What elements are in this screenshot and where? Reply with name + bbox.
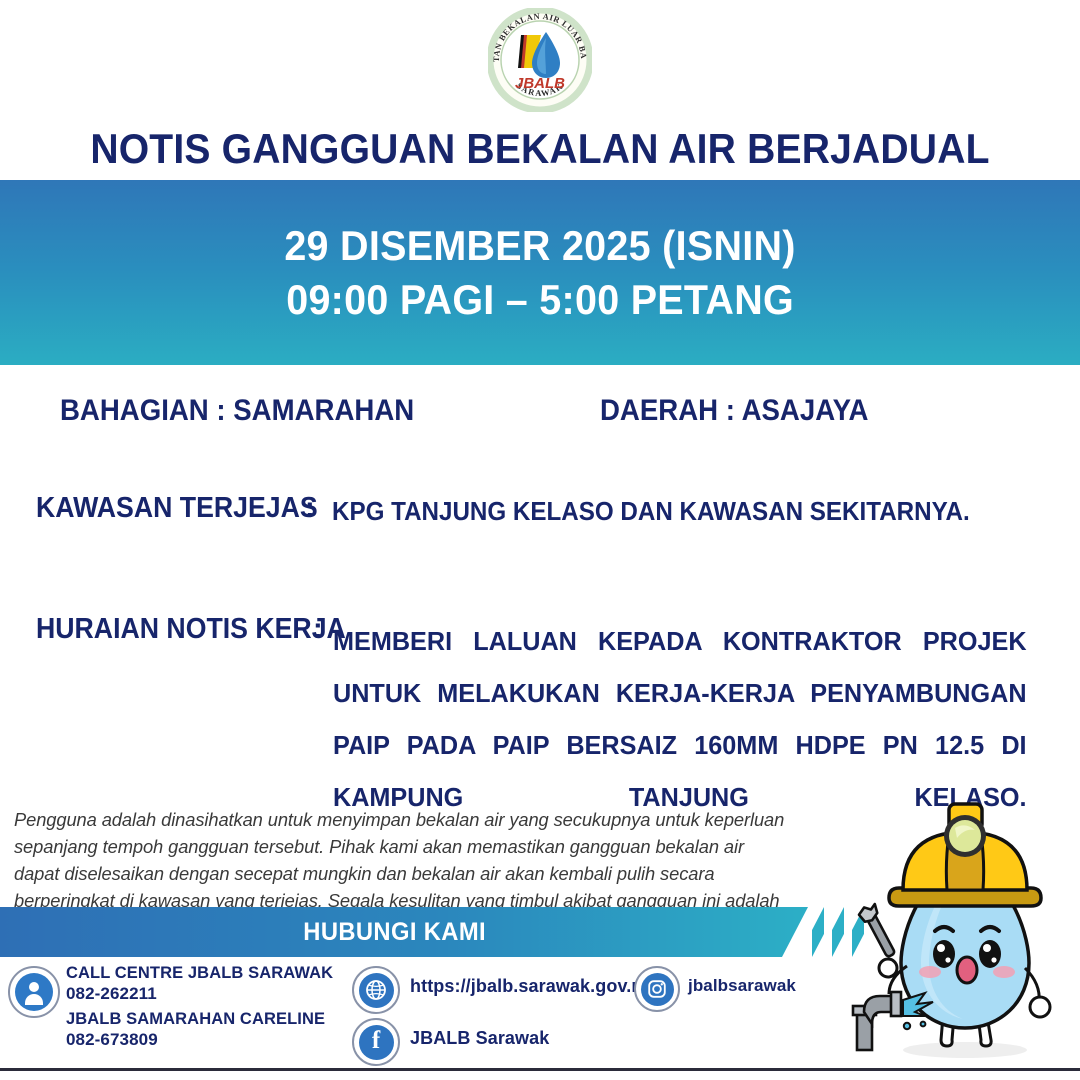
call-centre-title: CALL CENTRE JBALB SARAWAK <box>66 964 333 983</box>
instagram-icon[interactable] <box>634 966 680 1012</box>
facebook-glyph: f <box>372 1028 380 1053</box>
notice-time: 09:00 PAGI – 5:00 PETANG <box>286 273 794 327</box>
division-district-row: BAHAGIAN : SAMARAHAN DAERAH : ASAJAYA <box>0 394 1080 436</box>
facebook-handle[interactable]: JBALB Sarawak <box>410 1028 549 1049</box>
globe-icon[interactable] <box>352 966 400 1014</box>
affected-area-value: KPG TANJUNG KELASO DAN KAWASAN SEKITARNY… <box>332 496 970 527</box>
banner-stripe-1 <box>812 907 824 957</box>
person-icon <box>8 966 60 1018</box>
call-centre-number[interactable]: 082-262211 <box>66 984 157 1004</box>
work-description-label: HURAIAN NOTIS KERJA <box>36 613 346 646</box>
work-description-colon: : <box>313 613 323 646</box>
banner-stripe-2 <box>832 907 844 957</box>
logo-container: JABATAN BEKALAN AIR LUAR BANDAR SARAWAK … <box>0 6 1080 114</box>
instagram-handle[interactable]: jbalbsarawak <box>688 976 796 996</box>
water-droplet-mascot-icon <box>845 788 1080 1073</box>
affected-area-colon: : <box>305 492 315 525</box>
facebook-icon[interactable]: f <box>352 1018 400 1066</box>
contact-banner-label: HUBUNGI KAMI <box>303 918 486 947</box>
affected-area-row: KAWASAN TERJEJAS : KPG TANJUNG KELASO DA… <box>0 492 1080 536</box>
bahagian-text: BAHAGIAN : SAMARAHAN <box>60 394 414 428</box>
svg-text:JBALB: JBALB <box>515 75 565 92</box>
daerah-text: DAERAH : ASAJAYA <box>600 394 868 428</box>
poster-root: JABATAN BEKALAN AIR LUAR BANDAR SARAWAK … <box>0 0 1080 1080</box>
notice-date: 29 DISEMBER 2025 (ISNIN) <box>284 219 795 273</box>
affected-area-label: KAWASAN TERJEJAS <box>36 492 318 525</box>
careline-number[interactable]: 082-673809 <box>66 1030 158 1050</box>
website-url[interactable]: https://jbalb.sarawak.gov.my/ <box>410 976 663 997</box>
date-banner: 29 DISEMBER 2025 (ISNIN) 09:00 PAGI – 5:… <box>0 180 1080 365</box>
page-title: NOTIS GANGGUAN BEKALAN AIR BERJADUAL <box>38 123 1042 175</box>
contact-banner-bar: HUBUNGI KAMI <box>0 907 808 957</box>
jbalb-logo-icon: JABATAN BEKALAN AIR LUAR BANDAR SARAWAK … <box>488 8 592 112</box>
careline-title: JBALB SAMARAHAN CARELINE <box>66 1010 325 1029</box>
